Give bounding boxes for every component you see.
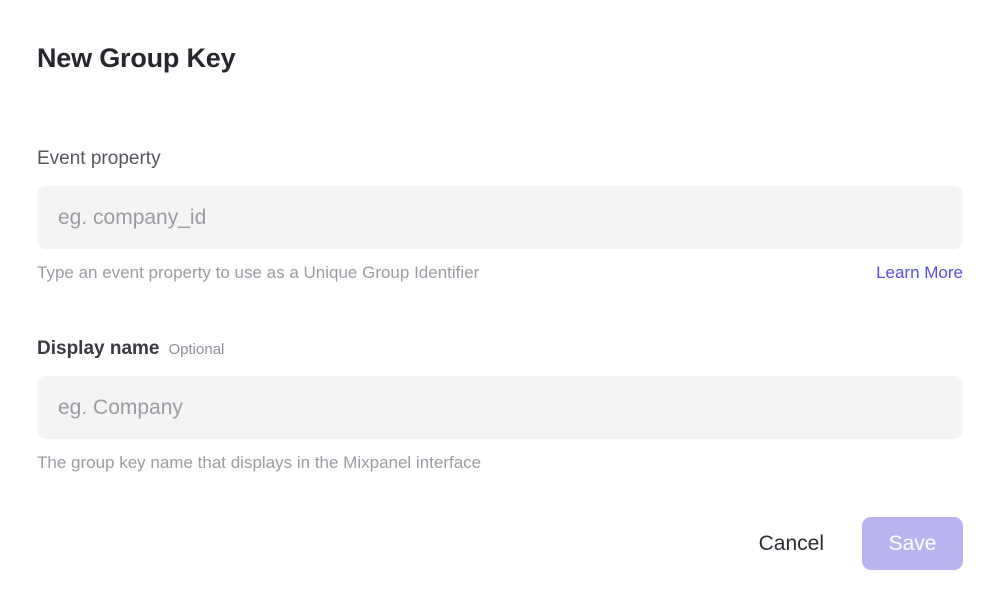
- page-title: New Group Key: [37, 40, 235, 76]
- save-button[interactable]: Save: [862, 517, 963, 570]
- event-property-label: Event property: [37, 146, 161, 172]
- event-property-helper-row: Type an event property to use as a Uniqu…: [37, 262, 963, 284]
- learn-more-link[interactable]: Learn More: [876, 262, 963, 284]
- event-property-label-row: Event property: [37, 146, 963, 172]
- display-name-optional-badge: Optional: [169, 340, 225, 360]
- cancel-button[interactable]: Cancel: [759, 530, 824, 558]
- display-name-label-row: Display name Optional: [37, 336, 963, 362]
- event-property-field-group: Event property Type an event property to…: [37, 146, 963, 284]
- display-name-field-group: Display name Optional The group key name…: [37, 336, 963, 474]
- display-name-input[interactable]: [37, 376, 963, 439]
- new-group-key-dialog: New Group Key Event property Type an eve…: [0, 0, 1000, 608]
- event-property-helper-text: Type an event property to use as a Uniqu…: [37, 262, 479, 284]
- event-property-input[interactable]: [37, 186, 963, 249]
- display-name-helper-text: The group key name that displays in the …: [37, 452, 481, 474]
- dialog-footer: Cancel Save: [0, 517, 963, 570]
- display-name-label: Display name: [37, 336, 160, 362]
- display-name-helper-row: The group key name that displays in the …: [37, 452, 963, 474]
